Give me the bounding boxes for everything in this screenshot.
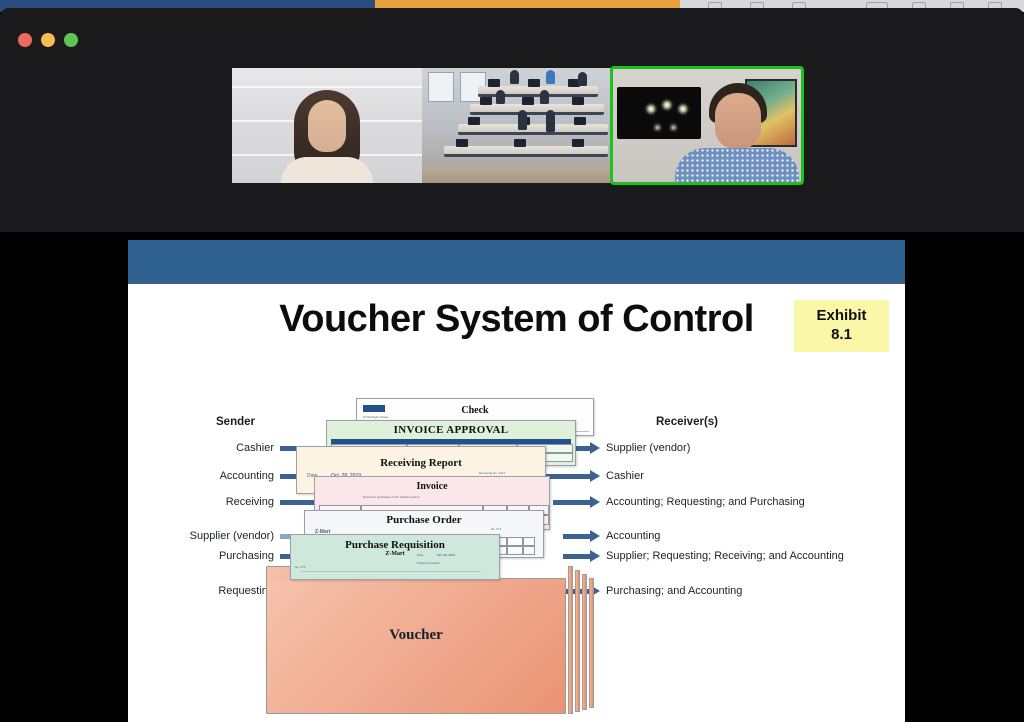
screen-share-area: Voucher System of Control Exhibit 8.1 Se…: [0, 232, 1024, 722]
receiver-label-purchasing-accounting: Purchasing; and Accounting: [606, 585, 742, 597]
requisition-date-value: Oct. 28, 2019: [437, 553, 455, 557]
document-receiving-report-title: Receiving Report: [297, 457, 545, 469]
tile2-person-5: [540, 90, 549, 104]
document-purchase-requisition-title: Purchase Requisition: [291, 539, 499, 551]
screen: Voucher System of Control Exhibit 8.1 Se…: [0, 0, 1024, 722]
receiver-label-supplier: Supplier (vendor): [606, 442, 690, 454]
tile3-display-light-5: [671, 125, 676, 130]
tile3-wall-display: [617, 87, 701, 139]
tile2-monitor-7: [468, 117, 480, 125]
tile1-person-body: [281, 157, 373, 183]
requisition-preferred-label: Preferred Vendor: [417, 561, 440, 565]
tile2-monitor-4: [480, 97, 492, 105]
tile2-floor: [422, 167, 612, 183]
tile2-monitor-5: [522, 97, 534, 105]
check-address-1: 10 Michigan Street: [363, 415, 388, 419]
tile2-person-2: [546, 70, 555, 84]
close-button[interactable]: [18, 33, 32, 47]
sender-label-supplier: Supplier (vendor): [128, 530, 274, 542]
column-header-receivers: Receiver(s): [656, 416, 718, 428]
tile2-window-1: [428, 72, 454, 102]
receiving-number: Receiving No. 4417: [479, 471, 505, 475]
document-check-title: Check: [357, 405, 593, 416]
receiver-label-supplier-requesting-receiving-accounting: Supplier; Requesting; Receiving; and Acc…: [606, 550, 844, 562]
document-purchase-requisition: Purchase Requisition Z-Mart Date Oct. 28…: [290, 534, 500, 580]
document-invoice-approval-title: INVOICE APPROVAL: [327, 424, 575, 436]
requisition-date-label: Date: [417, 553, 423, 557]
tile3-display-light-3: [679, 105, 687, 113]
slide-header-bar: [128, 240, 905, 284]
tile3-person-face: [715, 93, 761, 149]
receiver-label-cashier: Cashier: [606, 470, 644, 482]
requisition-number: No. 471: [295, 565, 306, 569]
tile2-desk-3: [458, 124, 608, 135]
check-logo: [363, 405, 385, 412]
tile2-monitor-10: [456, 139, 468, 147]
sender-label-receiving: Receiving: [128, 496, 274, 508]
tile2-person-4: [496, 90, 505, 104]
po-cell-8: [523, 546, 535, 555]
meeting-window: Voucher System of Control Exhibit 8.1 Se…: [0, 8, 1024, 722]
po-number: No. P-9: [491, 527, 501, 531]
po-cell-4: [523, 537, 535, 546]
exhibit-badge: Exhibit 8.1: [794, 300, 889, 352]
invoice-subtext: Record of purchases of the following ite…: [363, 495, 420, 499]
requisition-company: Z-Mart: [291, 551, 499, 557]
tile2-monitor-1: [488, 79, 500, 87]
tile3-display-light-1: [647, 105, 655, 113]
participant-filmstrip: [232, 68, 804, 185]
document-stack: Check 10 Michigan Street Chicago, IL 606…: [268, 398, 598, 722]
exhibit-badge-line2: 8.1: [831, 326, 852, 345]
column-header-sender: Sender: [216, 416, 255, 428]
tile2-person-1: [510, 70, 519, 84]
video-tile-participant-3-active-speaker[interactable]: [610, 66, 804, 185]
tile1-wall-line-1: [232, 86, 422, 88]
presentation-slide[interactable]: Voucher System of Control Exhibit 8.1 Se…: [128, 240, 905, 722]
window-titlebar: [0, 8, 1024, 56]
window-controls: [18, 33, 78, 47]
tile2-desk-4: [444, 146, 608, 157]
tile1-person-face: [308, 100, 346, 152]
tile2-monitor-11: [514, 139, 526, 147]
tile3-display-light-4: [655, 125, 660, 130]
tile2-monitor-9: [574, 117, 586, 125]
po-cell-7: [507, 546, 523, 555]
voucher-flow-diagram: Sender Receiver(s) Cashier Accounting Re…: [128, 390, 905, 722]
sender-label-cashier: Cashier: [128, 442, 274, 454]
receiver-label-accounting: Accounting: [606, 530, 660, 542]
page-title: Voucher System of Control: [128, 298, 905, 341]
po-cell-3: [507, 537, 523, 546]
sender-label-accounting: Accounting: [128, 470, 274, 482]
document-invoice-title: Invoice: [315, 481, 549, 492]
exhibit-badge-line1: Exhibit: [816, 307, 866, 326]
sender-label-requesting: Requesting: [128, 585, 274, 597]
tile2-monitor-12: [572, 139, 584, 147]
video-tile-participant-2[interactable]: [422, 68, 612, 183]
receiver-label-accounting-requesting-purchasing: Accounting; Requesting; and Purchasing: [606, 496, 805, 508]
tile2-person-7: [546, 110, 555, 132]
zoom-button[interactable]: [64, 33, 78, 47]
document-purchase-order-title: Purchase Order: [305, 514, 543, 526]
video-tile-participant-1[interactable]: [232, 68, 422, 183]
tile3-person-shirt: [675, 148, 799, 182]
tile3-display-light-2: [663, 101, 671, 109]
tile2-person-3: [578, 72, 587, 86]
requisition-rule-1: [301, 571, 481, 572]
minimize-button[interactable]: [41, 33, 55, 47]
tile2-monitor-6: [572, 97, 584, 105]
sender-label-purchasing: Purchasing: [128, 550, 274, 562]
tile2-person-6: [518, 110, 527, 130]
tile2-monitor-2: [528, 79, 540, 87]
tile2-desk-2: [470, 104, 604, 115]
